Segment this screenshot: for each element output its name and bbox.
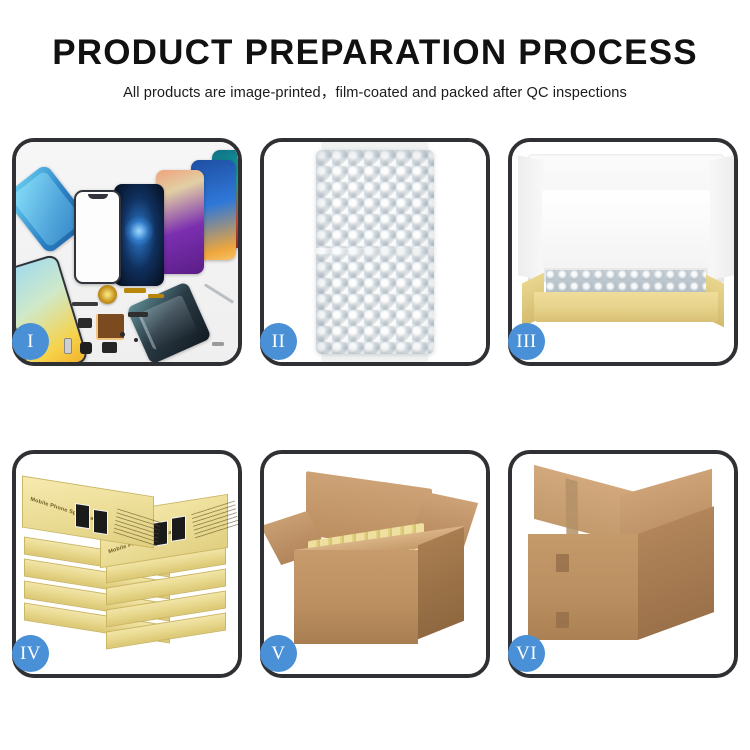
screen-protector-white (74, 190, 121, 284)
step-badge-3: III (508, 323, 545, 360)
carton-front-face (294, 550, 418, 644)
flex-cable-3 (128, 312, 148, 317)
step-image-3 (512, 142, 734, 362)
phone-dark-blue (114, 184, 164, 286)
step-panel-5: V (260, 450, 490, 678)
step-image-4: Mobile Phone Spare Parts Mobile Phone Sp… (16, 454, 238, 674)
inner-box-top-left: Mobile Phone Spare Parts (22, 476, 154, 549)
sealed-carton-front-face (528, 534, 638, 640)
box-screen-print-1 (75, 503, 90, 529)
flex-cable-2 (148, 294, 164, 298)
yellow-box-front (534, 292, 718, 322)
step-badge-5: V (260, 635, 297, 672)
step-panel-2: II (260, 138, 490, 366)
step-badge-2: II (260, 323, 297, 360)
tweezers-tool (204, 283, 234, 304)
step-image-2 (264, 142, 486, 362)
vibration-motor-icon (98, 285, 117, 304)
carton-seam-tab-top (556, 554, 569, 572)
bubble-wrap-illustration (264, 142, 486, 362)
screw-set (212, 342, 224, 346)
step-badge-1: I (12, 323, 49, 360)
sim-tray-part (64, 338, 72, 354)
step-badge-6: VI (508, 635, 545, 672)
camera-part (80, 342, 92, 354)
page-header: PRODUCT PREPARATION PROCESS All products… (0, 0, 750, 102)
step-image-5 (264, 454, 486, 674)
box-screen-print-4 (171, 516, 186, 542)
small-part-dot-1 (120, 332, 125, 337)
step-image-6 (512, 454, 734, 674)
step-image-1 (16, 142, 238, 362)
box-screen-print-2 (93, 509, 108, 535)
flex-cable-5 (78, 318, 92, 328)
page-subtitle: All products are image-printed，film-coat… (0, 81, 750, 102)
disassembled-back-panel (126, 281, 212, 362)
step-panel-6: VI (508, 450, 738, 678)
stacked-boxes-illustration: Mobile Phone Spare Parts Mobile Phone Sp… (22, 472, 238, 668)
small-part-dot-2 (134, 338, 138, 342)
page-title: PRODUCT PREPARATION PROCESS (0, 34, 750, 72)
bubble-wrap-sheet (316, 150, 434, 354)
carton-side-face (418, 527, 464, 640)
carton-seam-tab-bottom (556, 612, 569, 628)
flex-cable-1 (124, 288, 146, 293)
speaker-part (102, 342, 117, 353)
foam-sheet (542, 190, 710, 268)
step-panel-1: I (12, 138, 242, 366)
step-panel-4: Mobile Phone Spare Parts Mobile Phone Sp… (12, 450, 242, 678)
step-panel-3: III (508, 138, 738, 366)
step-badge-4: IV (12, 635, 49, 672)
phones-and-parts-illustration (16, 142, 238, 362)
process-step-grid: I II III (12, 138, 738, 678)
flex-cable-4 (72, 302, 98, 306)
